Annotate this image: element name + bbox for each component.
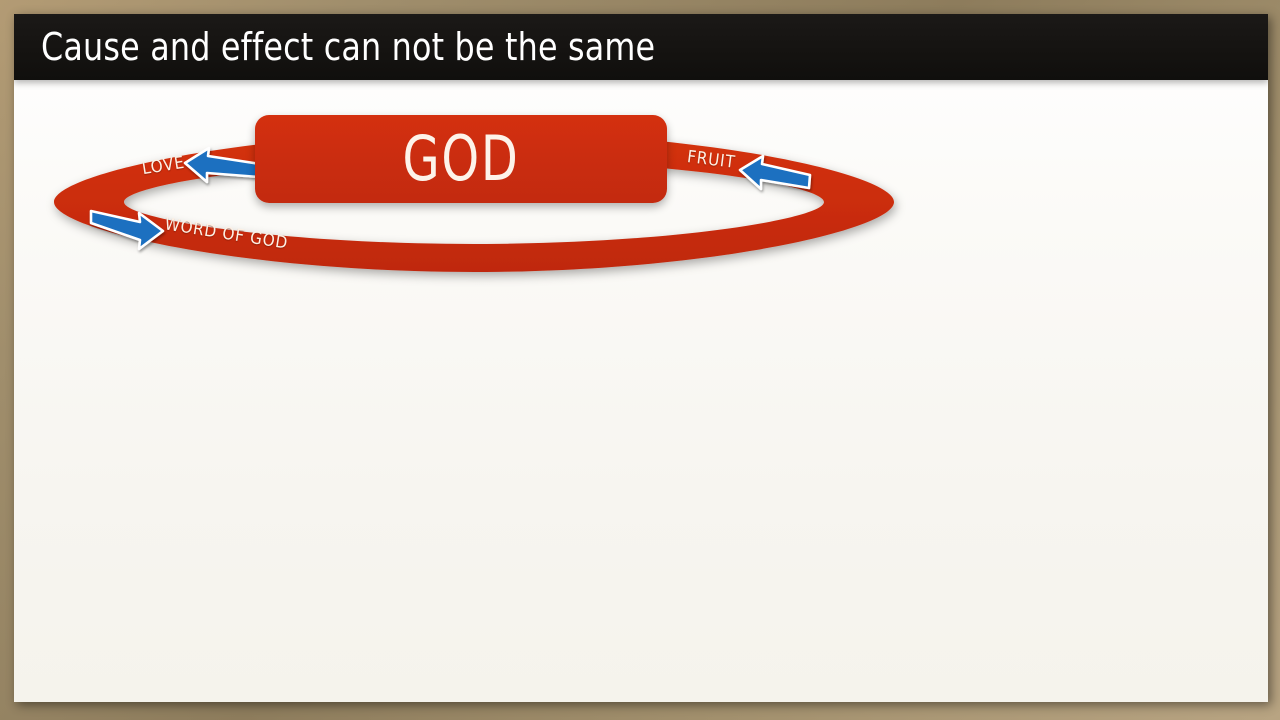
title-bar: Cause and effect can not be the same: [14, 14, 1268, 80]
center-node-god-label: GOD: [402, 128, 519, 190]
center-node-god: GOD: [255, 115, 667, 203]
page-title: Cause and effect can not be the same: [41, 25, 655, 69]
cycle-diagram: LOVE WORD OF GOD FRUIT GOD: [14, 80, 1268, 702]
slide-frame: Cause and effect can not be the same: [0, 0, 1280, 720]
slide-surface: Cause and effect can not be the same: [14, 14, 1268, 702]
